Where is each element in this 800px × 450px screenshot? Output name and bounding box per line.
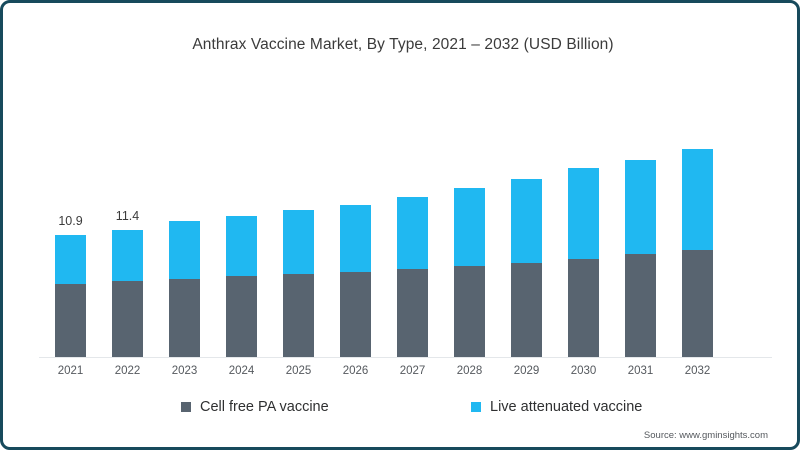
- bar-group[interactable]: [397, 197, 428, 357]
- x-axis-line: [39, 357, 772, 358]
- bar-group[interactable]: [226, 216, 257, 357]
- x-axis-tick-label: 2021: [41, 365, 101, 377]
- bar-group[interactable]: [55, 235, 86, 357]
- bar-segment-live-attenuated[interactable]: [625, 160, 656, 254]
- x-axis-tick-label: 2022: [98, 365, 158, 377]
- legend-item-label: Cell free PA vaccine: [200, 399, 329, 415]
- legend-item[interactable]: Live attenuated vaccine: [471, 399, 642, 415]
- bar-group[interactable]: [454, 188, 485, 357]
- bar-segment-cell-free-pa[interactable]: [112, 281, 143, 357]
- bar-segment-cell-free-pa[interactable]: [283, 274, 314, 357]
- x-axis-tick-label: 2030: [554, 365, 614, 377]
- plot-area: 10.9202111.42022202320242025202620272028…: [6, 6, 800, 450]
- bar-group[interactable]: [283, 210, 314, 357]
- bar-group[interactable]: [169, 221, 200, 357]
- legend-item-label: Live attenuated vaccine: [490, 399, 642, 415]
- bar-segment-cell-free-pa[interactable]: [55, 284, 86, 357]
- bar-segment-live-attenuated[interactable]: [511, 179, 542, 263]
- bar-segment-cell-free-pa[interactable]: [340, 272, 371, 357]
- x-axis-tick-label: 2029: [497, 365, 557, 377]
- bar-group[interactable]: [340, 205, 371, 357]
- bar-segment-cell-free-pa[interactable]: [511, 263, 542, 357]
- x-axis-tick-label: 2025: [269, 365, 329, 377]
- x-axis-tick-label: 2028: [440, 365, 500, 377]
- bar-segment-live-attenuated[interactable]: [169, 221, 200, 279]
- bar-segment-cell-free-pa[interactable]: [568, 259, 599, 357]
- bar-segment-live-attenuated[interactable]: [112, 230, 143, 281]
- bar-group[interactable]: [112, 230, 143, 357]
- x-axis-tick-label: 2026: [326, 365, 386, 377]
- bar-segment-cell-free-pa[interactable]: [454, 266, 485, 357]
- bar-segment-live-attenuated[interactable]: [226, 216, 257, 276]
- bar-group[interactable]: [511, 179, 542, 357]
- bar-segment-cell-free-pa[interactable]: [682, 250, 713, 357]
- bar-segment-cell-free-pa[interactable]: [169, 279, 200, 357]
- chart-canvas: Anthrax Vaccine Market, By Type, 2021 – …: [6, 6, 794, 444]
- x-axis-tick-label: 2031: [611, 365, 671, 377]
- bar-group[interactable]: [568, 168, 599, 357]
- x-axis-tick-label: 2023: [155, 365, 215, 377]
- bar-segment-live-attenuated[interactable]: [397, 197, 428, 269]
- bar-segment-live-attenuated[interactable]: [568, 168, 599, 259]
- bar-segment-cell-free-pa[interactable]: [625, 254, 656, 357]
- square-swatch-icon: [471, 402, 481, 412]
- bar-segment-cell-free-pa[interactable]: [397, 269, 428, 357]
- chart-legend: Cell free PA vaccineLive attenuated vacc…: [6, 399, 800, 423]
- bar-segment-live-attenuated[interactable]: [682, 149, 713, 250]
- x-axis-tick-label: 2027: [383, 365, 443, 377]
- bar-value-label: 11.4: [98, 209, 158, 223]
- source-attribution: Source: www.gminsights.com: [644, 430, 768, 441]
- bar-segment-live-attenuated[interactable]: [55, 235, 86, 284]
- legend-item[interactable]: Cell free PA vaccine: [181, 399, 329, 415]
- chart-figure: Anthrax Vaccine Market, By Type, 2021 – …: [0, 0, 800, 450]
- bar-segment-live-attenuated[interactable]: [454, 188, 485, 266]
- bar-value-label: 10.9: [41, 214, 101, 228]
- bar-segment-live-attenuated[interactable]: [283, 210, 314, 274]
- bar-group[interactable]: [625, 160, 656, 357]
- bar-group[interactable]: [682, 149, 713, 357]
- x-axis-tick-label: 2024: [212, 365, 272, 377]
- x-axis-tick-label: 2032: [668, 365, 728, 377]
- square-swatch-icon: [181, 402, 191, 412]
- bar-segment-cell-free-pa[interactable]: [226, 276, 257, 357]
- bar-segment-live-attenuated[interactable]: [340, 205, 371, 272]
